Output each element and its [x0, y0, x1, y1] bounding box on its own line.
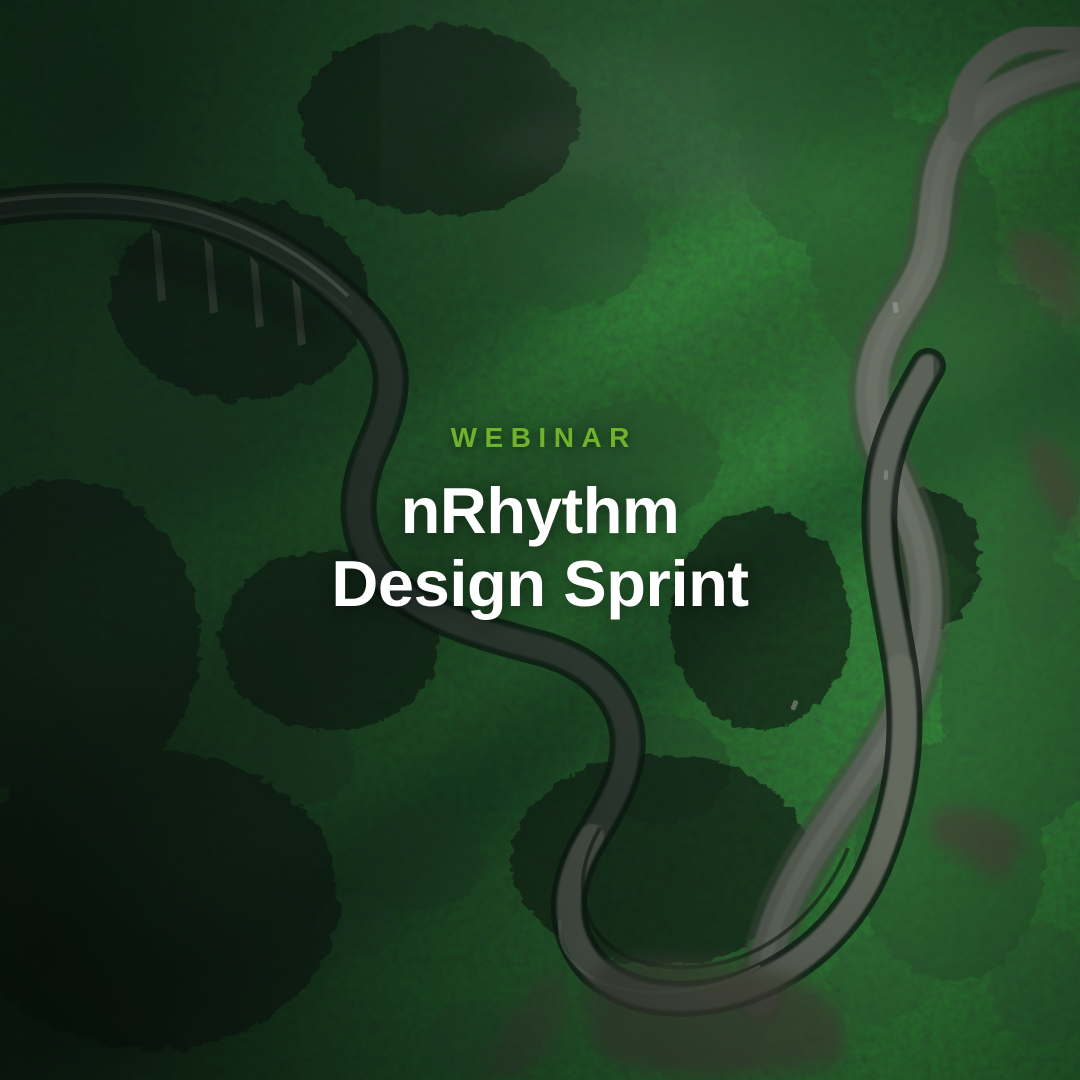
title-group: WEBINAR nRhythm Design Sprint: [0, 424, 1080, 621]
webinar-promo-graphic: WEBINAR nRhythm Design Sprint: [0, 0, 1080, 1080]
title-line-1: nRhythm: [0, 474, 1080, 547]
title-line-2: Design Sprint: [0, 547, 1080, 620]
eyebrow-label: WEBINAR: [0, 424, 1080, 452]
